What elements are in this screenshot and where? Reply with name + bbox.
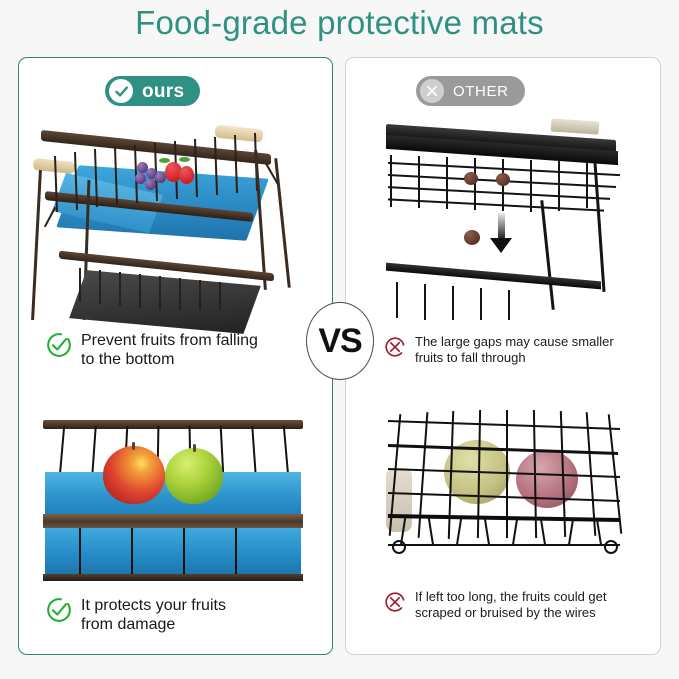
down-arrow-head-icon	[490, 238, 512, 253]
feature-ours-1-line2: to the bottom	[81, 351, 174, 368]
feature-other-2-line1: If left too long, the fruits could get	[415, 589, 607, 604]
red-apple	[103, 446, 165, 504]
feature-ours-1: Prevent fruits from falling to the botto…	[19, 331, 332, 369]
falling-fruit	[464, 230, 480, 245]
badge-other: OTHER	[416, 76, 525, 106]
basket-foot	[392, 540, 406, 554]
check-circle-icon	[46, 332, 72, 363]
green-apple	[165, 448, 223, 504]
feature-other-1-text: The large gaps may cause smaller fruits …	[415, 334, 614, 367]
wooden-handle-right	[214, 125, 263, 143]
image-bruised-fruit-on-bare-wires	[346, 398, 660, 588]
feature-ours-1-text: Prevent fruits from falling to the botto…	[81, 331, 258, 369]
feature-ours-1-line1: Prevent fruits from falling	[81, 332, 258, 349]
feature-ours-2-text: It protects your fruits from damage	[81, 596, 226, 634]
wooden-handle	[551, 118, 600, 134]
panel-ours: ours	[18, 57, 333, 655]
down-arrow-icon	[498, 213, 505, 241]
feature-other-2: If left too long, the fruits could get s…	[346, 589, 660, 622]
basket-bottom-rail	[43, 574, 303, 581]
x-circle-icon	[420, 79, 444, 103]
feature-other-2-line2: scraped or bruised by the wires	[415, 605, 596, 620]
check-circle-icon	[46, 597, 72, 628]
grape	[145, 179, 156, 190]
feature-other-2-text: If left too long, the fruits could get s…	[415, 589, 607, 622]
basket-second-tier-plate	[69, 270, 261, 334]
badge-ours: ours	[105, 76, 200, 106]
image-two-tier-rack-with-blue-mat	[19, 110, 332, 320]
x-circle-icon	[384, 591, 406, 618]
vs-label: VS	[318, 322, 361, 361]
strawberry	[179, 166, 194, 184]
feature-ours-2: It protects your fruits from damage	[19, 596, 332, 634]
apple-stem	[193, 444, 196, 452]
leaf	[159, 158, 170, 163]
image-bare-wire-rack-fruit-falling	[346, 110, 660, 320]
basket-foot	[604, 540, 618, 554]
small-fruit	[464, 172, 478, 185]
feature-other-1-line2: fruits to fall through	[415, 350, 526, 365]
feature-other-1-line1: The large gaps may cause smaller	[415, 334, 614, 349]
feature-ours-2-line1: It protects your fruits	[81, 597, 226, 614]
blue-protective-mat-lower	[45, 528, 301, 576]
apple-stem	[132, 442, 135, 450]
basket-bottom-rail	[388, 514, 620, 522]
leaf	[179, 157, 190, 162]
comparison-infographic: Food-grade protective mats ours	[0, 0, 679, 679]
vs-badge: VS	[306, 302, 374, 380]
x-circle-icon	[384, 336, 406, 363]
check-circle-icon	[109, 79, 133, 103]
feature-other-1: The large gaps may cause smaller fruits …	[346, 334, 660, 367]
badge-ours-label: ours	[142, 82, 184, 101]
basket-top-rail	[43, 420, 303, 429]
panel-other: OTHER	[345, 57, 661, 655]
feature-ours-2-line2: from damage	[81, 616, 175, 633]
badge-other-label: OTHER	[453, 84, 509, 99]
page-title: Food-grade protective mats	[0, 4, 679, 42]
basket-middle-rail	[43, 514, 303, 528]
image-apples-resting-on-blue-mat	[19, 398, 332, 588]
small-fruit	[496, 173, 510, 186]
rack-lower-frame	[386, 263, 601, 290]
